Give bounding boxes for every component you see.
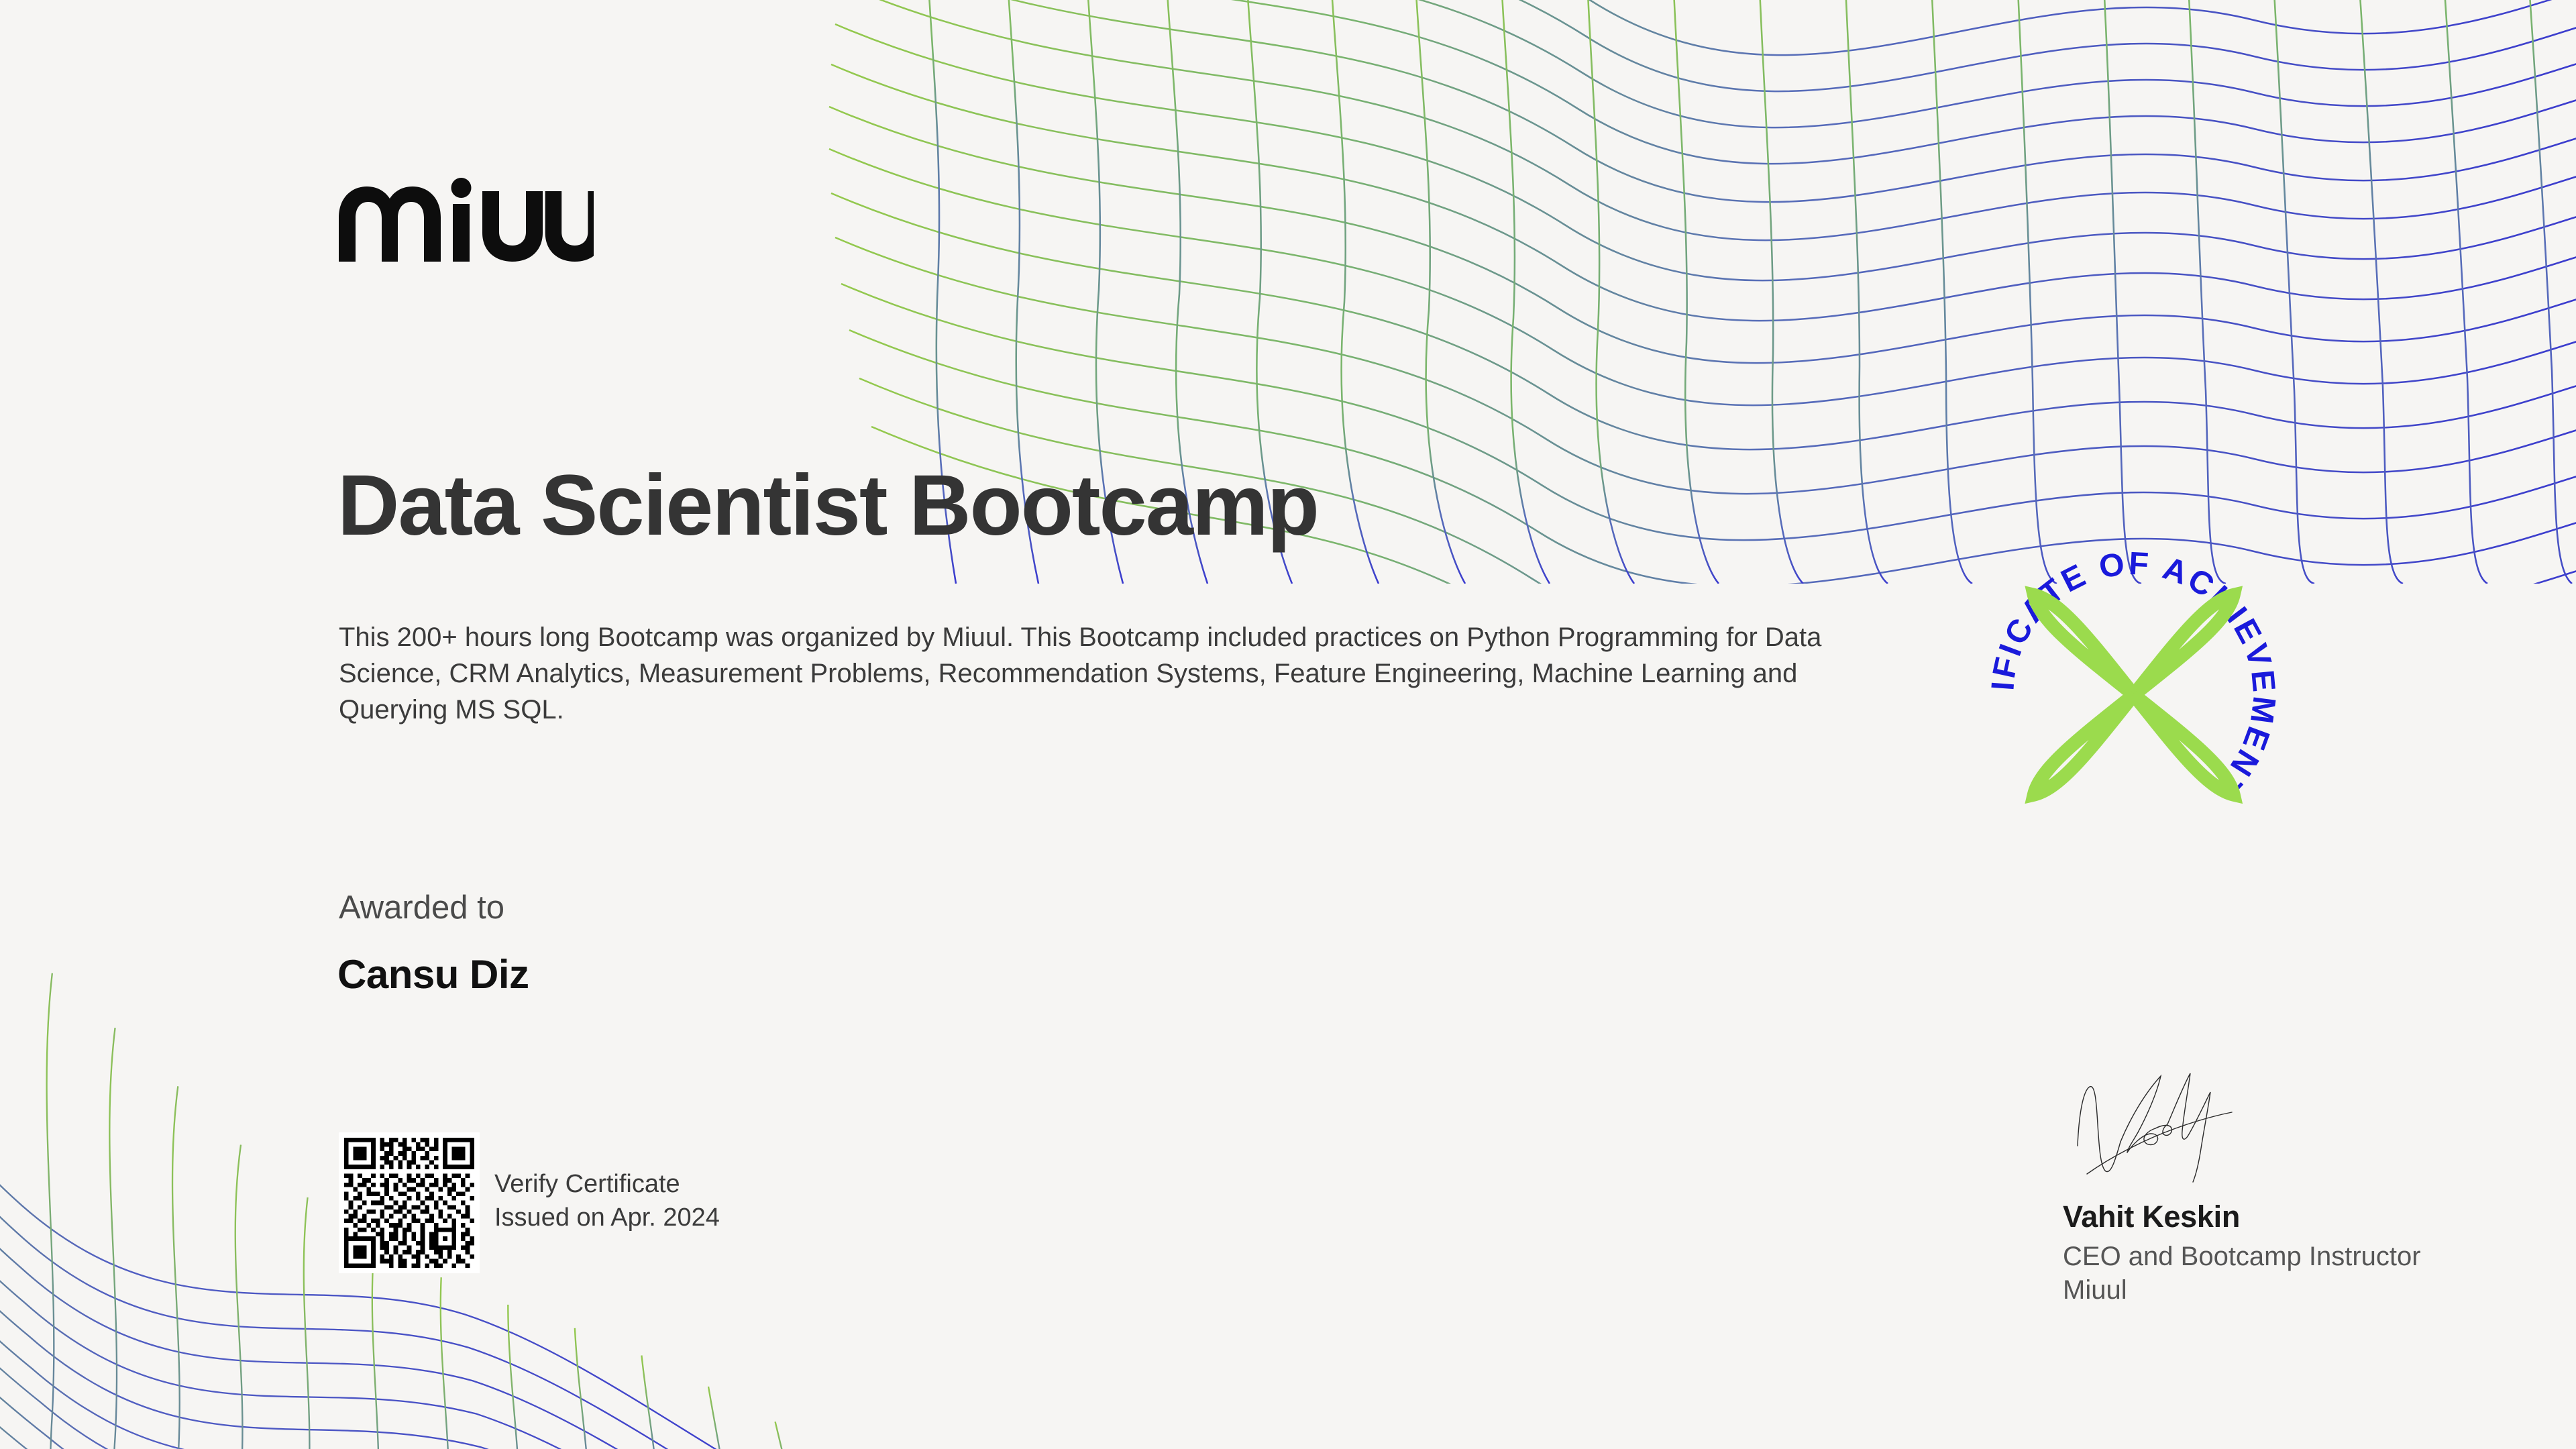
recipient-name: Cansu Diz — [337, 951, 529, 998]
certificate-title: Data Scientist Bootcamp — [337, 456, 1318, 555]
miuul-logo — [339, 176, 594, 263]
bottom-left-mesh-decoration — [0, 778, 1093, 1449]
signature-block: Vahit Keskin CEO and Bootcamp Instructor… — [2063, 1067, 2492, 1307]
verify-certificate-line: Verify Certificate — [494, 1167, 720, 1201]
butterfly-emblem-icon — [2034, 595, 2234, 795]
certificate-canvas: Data Scientist Bootcamp This 200+ hours … — [0, 0, 2576, 1449]
certificate-description: This 200+ hours long Bootcamp was organi… — [339, 619, 1895, 728]
signer-name: Vahit Keskin — [2063, 1199, 2492, 1234]
seal-ring-text: CERTIFICATE OF ACHIEVEMENT — [1976, 537, 2283, 805]
signer-organization: Miuul — [2063, 1273, 2492, 1307]
signer-role: CEO and Bootcamp Instructor — [2063, 1240, 2492, 1273]
verify-text: Verify Certificate Issued on Apr. 2024 — [494, 1167, 720, 1238]
awarded-to-label: Awarded to — [339, 889, 504, 926]
issued-on-line: Issued on Apr. 2024 — [494, 1201, 720, 1234]
qr-code-image — [344, 1138, 474, 1268]
handwritten-signature-icon — [2063, 1067, 2264, 1187]
seal-graphic: CERTIFICATE OF ACHIEVEMENT — [1976, 537, 2291, 852]
seal-text-path: CERTIFICATE OF ACHIEVEMENT — [1976, 537, 2283, 805]
certificate-seal: CERTIFICATE OF ACHIEVEMENT — [1976, 537, 2291, 852]
miuul-logo-wordmark — [339, 176, 594, 263]
qr-code[interactable] — [339, 1132, 480, 1273]
verification-block: Verify Certificate Issued on Apr. 2024 — [339, 1132, 720, 1273]
